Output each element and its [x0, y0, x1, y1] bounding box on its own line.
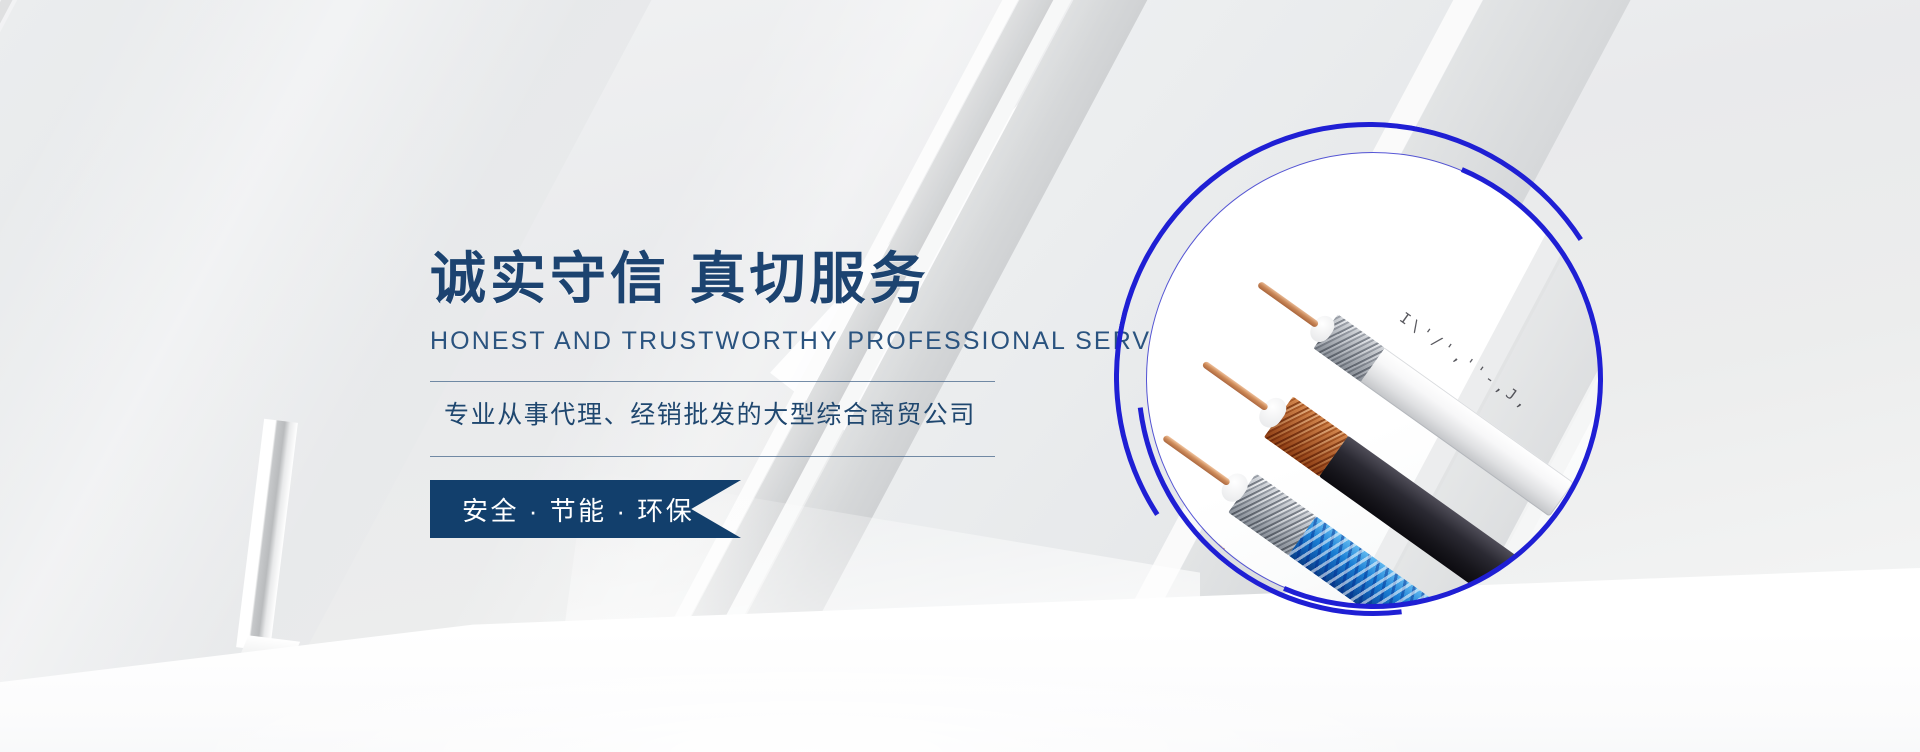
divider-top [430, 381, 995, 382]
bg-vertical-post [236, 419, 298, 651]
page-title: 诚实守信 真切服务 [430, 248, 1080, 311]
cable-photo-circle: I\'/',''-,J, [1146, 152, 1600, 606]
banner-subtitle-chinese: 专业从事代理、经销批发的大型综合商贸公司 [430, 382, 1080, 431]
banner-copy: 诚实守信 真切服务 HONEST AND TRUSTWORTHY PROFESS… [430, 248, 1080, 457]
bg-diagonal-band [0, 0, 191, 752]
bg-diagonal-band [0, 0, 30, 752]
divider-bottom [430, 456, 995, 457]
hero-banner: 诚实守信 真切服务 HONEST AND TRUSTWORTHY PROFESS… [0, 0, 1920, 752]
bg-floor-plane [0, 522, 1920, 752]
bg-post-foot [238, 635, 300, 666]
bg-diagonal-band [0, 0, 54, 752]
bg-diagonal-band [0, 0, 163, 752]
banner-subtitle-english: HONEST AND TRUSTWORTHY PROFESSIONAL SERV… [430, 327, 1080, 356]
ribbon-badge-label: 安全 · 节能 · 环保 [430, 480, 741, 538]
cable-center-conductor [1147, 555, 1188, 594]
bg-floor-glow [0, 572, 1920, 752]
decorative-arc-outer [1067, 75, 1672, 680]
